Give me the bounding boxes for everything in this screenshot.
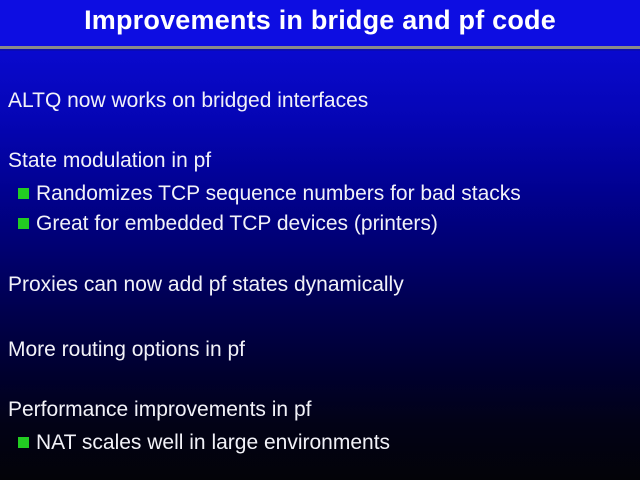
slide-bullet-text: More routing options in pf	[8, 338, 245, 361]
slide-body: ALTQ now works on bridged interfaces Sta…	[0, 52, 640, 480]
slide-bullet-line: Great for embedded TCP devices (printers…	[18, 211, 438, 237]
slide-bullet-text: State modulation in pf	[8, 149, 211, 172]
slide-title-bar: Improvements in bridge and pf code	[0, 0, 640, 46]
slide-bullet-text: Great for embedded TCP devices (printers…	[36, 212, 438, 235]
slide-bullet-line: NAT scales well in large environments	[18, 430, 390, 456]
slide-bullet-text: Proxies can now add pf states dynamicall…	[8, 273, 404, 296]
slide-bullet-line: State modulation in pf	[8, 148, 211, 174]
slide-bullet-text: Randomizes TCP sequence numbers for bad …	[36, 182, 521, 205]
title-divider-shadow	[0, 49, 640, 51]
slide-title: Improvements in bridge and pf code	[0, 5, 640, 36]
slide-bullet-line: Performance improvements in pf	[8, 397, 311, 423]
green-square-bullet-icon	[18, 218, 29, 229]
slide-bullet-line: Proxies can now add pf states dynamicall…	[8, 272, 404, 298]
presentation-slide: Improvements in bridge and pf code ALTQ …	[0, 0, 640, 480]
slide-bullet-text: NAT scales well in large environments	[36, 431, 390, 454]
green-square-bullet-icon	[18, 188, 29, 199]
slide-bullet-line: More routing options in pf	[8, 337, 245, 363]
slide-bullet-line: Randomizes TCP sequence numbers for bad …	[18, 181, 521, 207]
slide-bullet-text: Performance improvements in pf	[8, 398, 311, 421]
slide-bullet-text: ALTQ now works on bridged interfaces	[8, 89, 368, 112]
green-square-bullet-icon	[18, 437, 29, 448]
slide-bullet-line: ALTQ now works on bridged interfaces	[8, 88, 368, 114]
